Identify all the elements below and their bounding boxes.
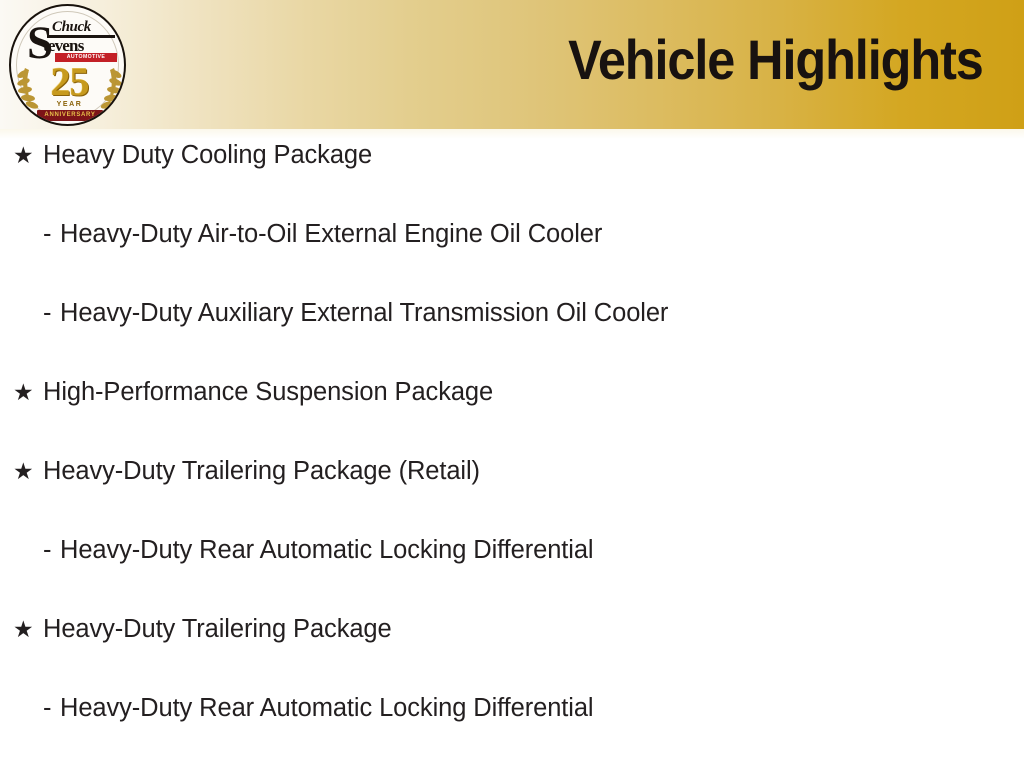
logo-first-name: Chuck	[52, 19, 91, 36]
star-bullet-icon: ★	[13, 613, 43, 646]
star-bullet-icon: ★	[13, 139, 43, 172]
header-fade-edge	[0, 129, 1024, 139]
dash-bullet-icon: -	[43, 534, 60, 567]
dash-bullet-icon: -	[43, 692, 60, 725]
slide-header-band: S Chuck tevens AUTOMOTIVE 25 YEAR ANNIVE…	[0, 0, 1024, 129]
list-item: ★Heavy-Duty Trailering Package	[0, 613, 1024, 692]
logo-anniversary-number: 25	[11, 62, 126, 102]
list-item: ★High-Performance Suspension Package	[0, 376, 1024, 455]
logo-anniversary-word: ANNIVERSARY	[37, 110, 103, 121]
list-item-label: Heavy Duty Cooling Package	[43, 139, 372, 172]
list-item: -Heavy-Duty Air-to-Oil External Engine O…	[0, 218, 1024, 297]
company-logo: S Chuck tevens AUTOMOTIVE 25 YEAR ANNIVE…	[9, 4, 126, 126]
list-item: -Heavy-Duty Rear Automatic Locking Diffe…	[0, 692, 1024, 771]
list-item: -Heavy-Duty Auxiliary External Transmiss…	[0, 297, 1024, 376]
list-item-label: Heavy-Duty Air-to-Oil External Engine Oi…	[60, 218, 602, 251]
list-item-label: Heavy-Duty Auxiliary External Transmissi…	[60, 297, 668, 330]
star-bullet-icon: ★	[13, 455, 43, 488]
logo-anniversary-unit: YEAR	[11, 101, 126, 108]
logo-oval-border: S Chuck tevens AUTOMOTIVE 25 YEAR ANNIVE…	[9, 4, 126, 126]
list-item-label: Heavy-Duty Trailering Package	[43, 613, 392, 646]
star-bullet-icon: ★	[13, 376, 43, 409]
page-title: Vehicle Highlights	[568, 28, 983, 92]
logo-anniversary-bar: ANNIVERSARY	[37, 110, 103, 121]
list-item: -Heavy-Duty Rear Automatic Locking Diffe…	[0, 534, 1024, 613]
list-item-label: Heavy-Duty Rear Automatic Locking Differ…	[60, 534, 594, 567]
bullet-list: ★Heavy Duty Cooling Package-Heavy-Duty A…	[0, 139, 1024, 771]
list-item-label: Heavy-Duty Trailering Package (Retail)	[43, 455, 480, 488]
list-item: ★Heavy Duty Cooling Package	[0, 139, 1024, 218]
dash-bullet-icon: -	[43, 297, 60, 330]
dash-bullet-icon: -	[43, 218, 60, 251]
list-item-label: Heavy-Duty Rear Automatic Locking Differ…	[60, 692, 594, 725]
list-item-label: High-Performance Suspension Package	[43, 376, 493, 409]
list-item: ★Heavy-Duty Trailering Package (Retail)	[0, 455, 1024, 534]
